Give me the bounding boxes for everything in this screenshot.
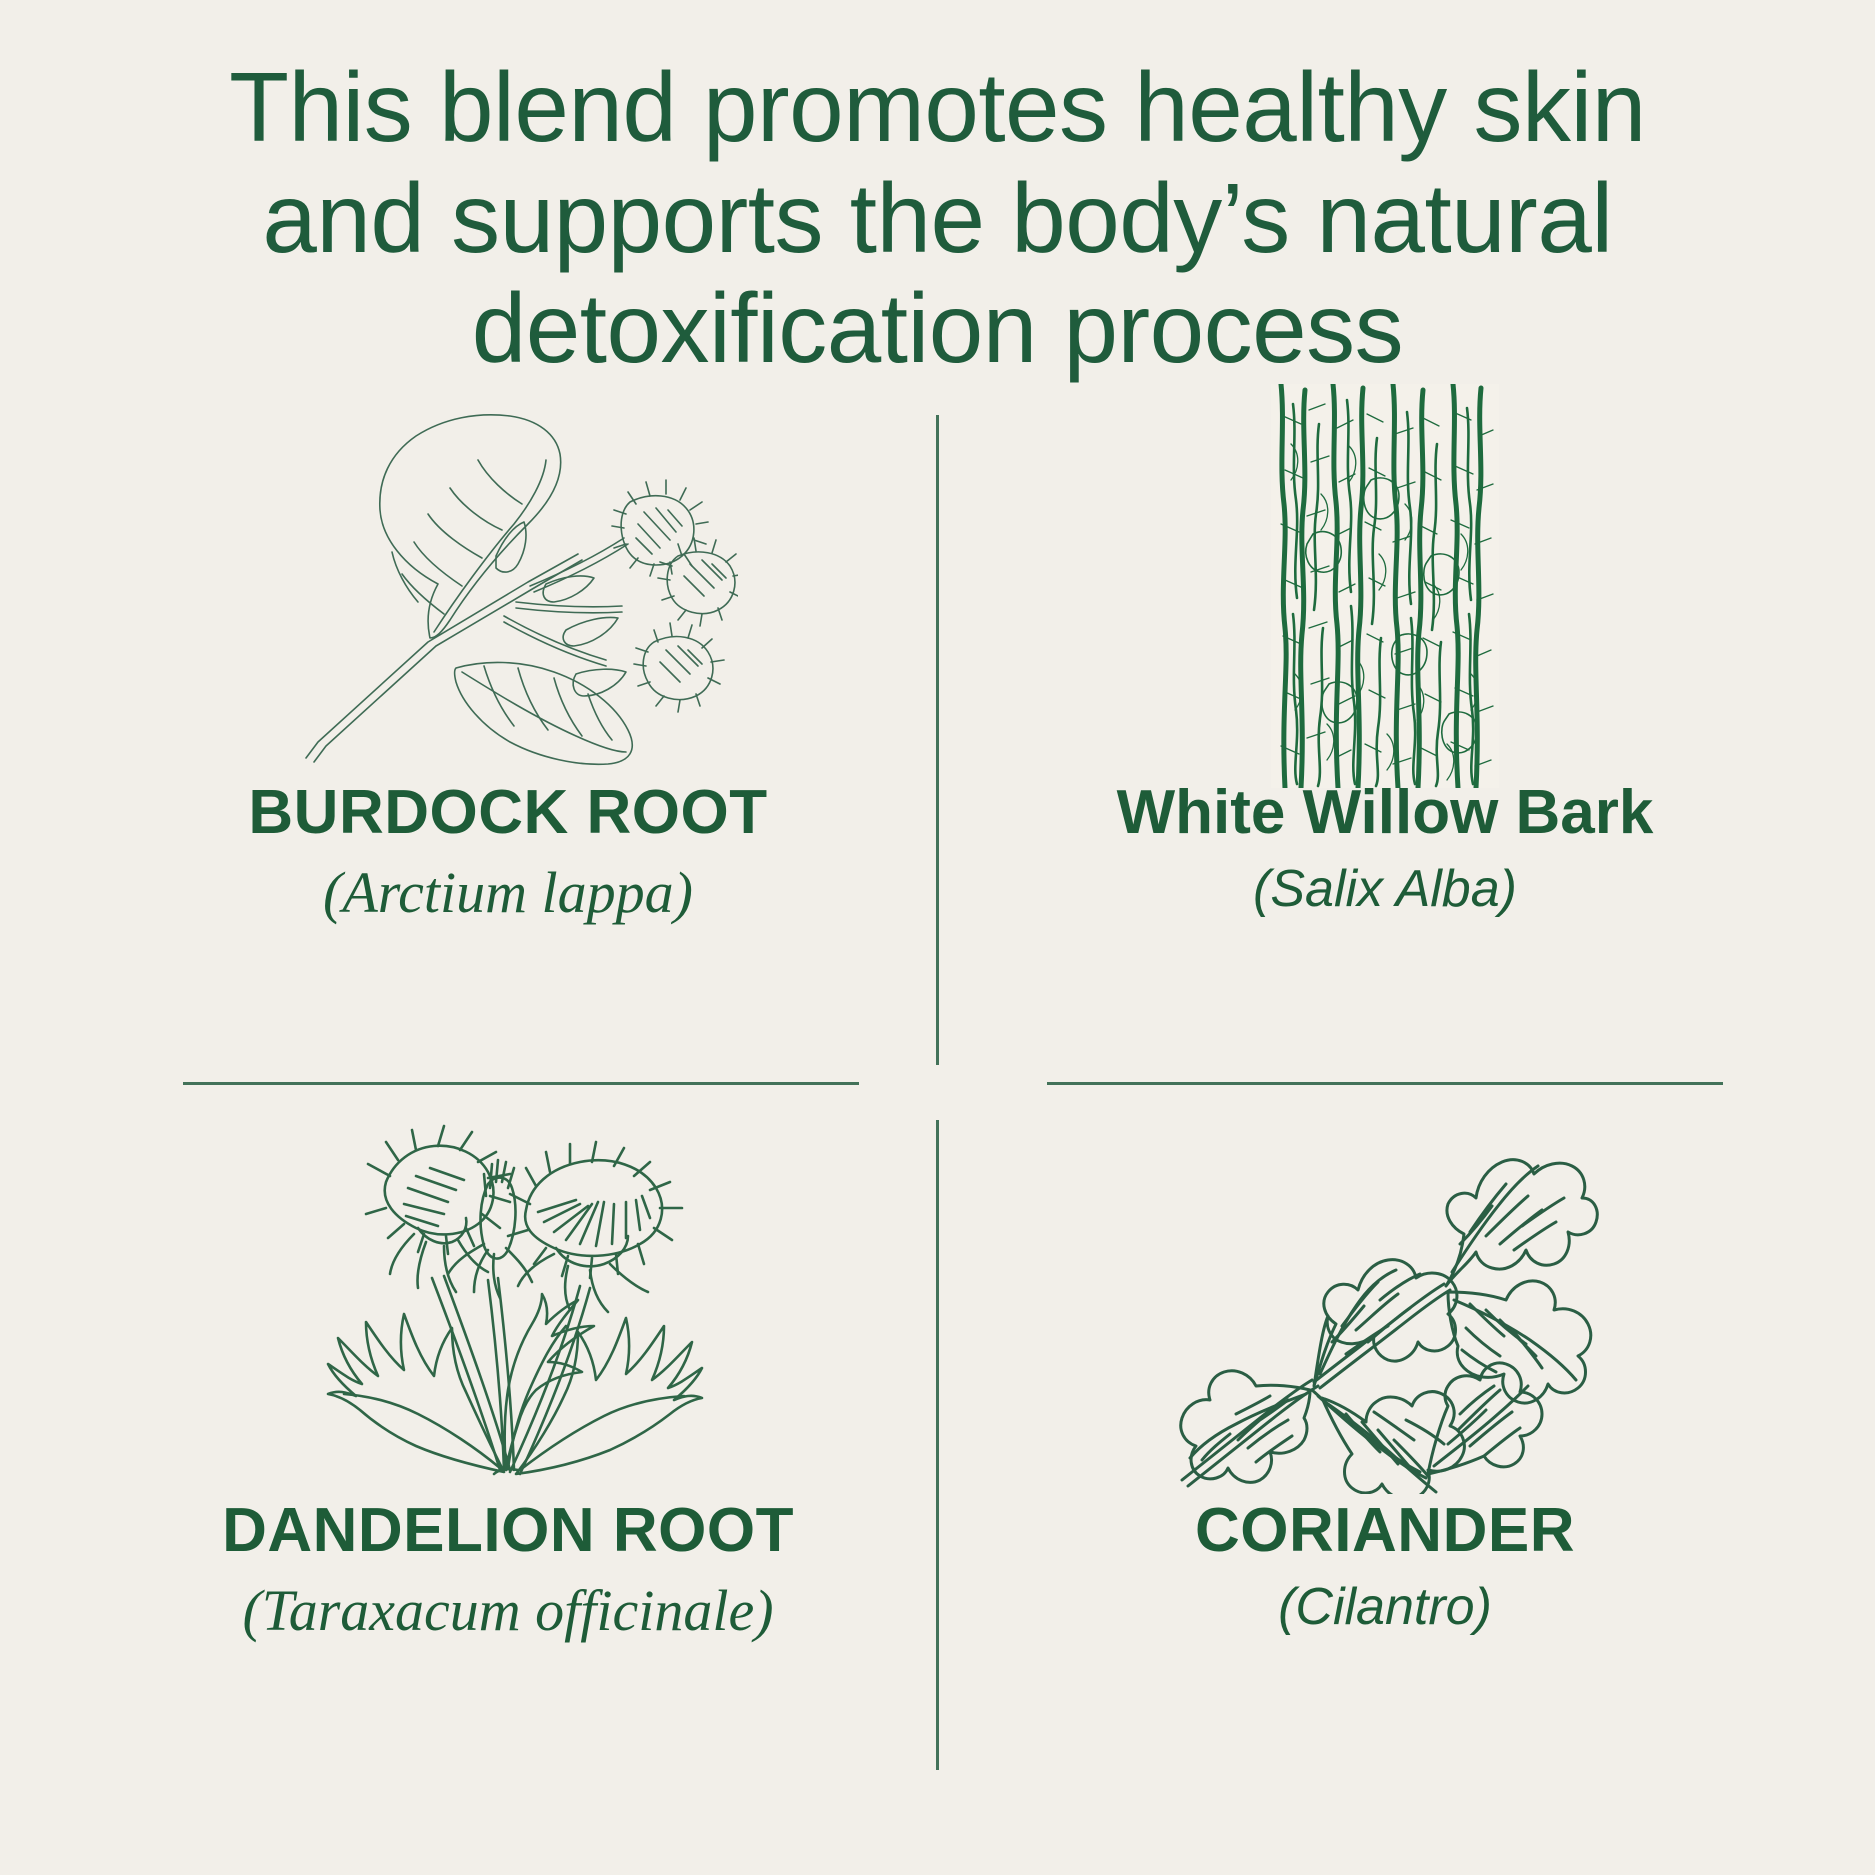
ingredient-card-burdock-root: BURDOCK ROOT (Arctium lappa) <box>78 400 938 925</box>
headline-line-2: and supports the body’s natural <box>262 163 1612 273</box>
ingredient-latin-name: (Salix Alba) <box>1253 861 1517 918</box>
ingredient-name: White Willow Bark <box>1117 780 1654 845</box>
coriander-leaf-illustration <box>955 1118 1815 1490</box>
ingredient-card-white-willow-bark: White Willow Bark (Salix Alba) <box>955 400 1815 918</box>
headline-line-1: This blend promotes healthy skin <box>229 52 1646 162</box>
page-headline: This blend promotes healthy skin and sup… <box>0 52 1875 384</box>
headline-line-3: detoxification process <box>472 273 1403 383</box>
ingredient-card-dandelion-root: DANDELION ROOT (Taraxacum officinale) <box>78 1118 938 1643</box>
willow-bark-texture-illustration <box>955 400 1815 772</box>
ingredient-card-coriander: CORIANDER (Cilantro) <box>955 1118 1815 1636</box>
ingredient-grid: BURDOCK ROOT (Arctium lappa) <box>0 400 1875 1875</box>
dandelion-plant-illustration <box>78 1118 938 1490</box>
ingredient-infographic: This blend promotes healthy skin and sup… <box>0 0 1875 1875</box>
ingredient-name: BURDOCK ROOT <box>248 780 767 845</box>
bark-texture-panel <box>1271 384 1499 788</box>
burdock-plant-illustration <box>78 400 938 772</box>
ingredient-latin-name: (Cilantro) <box>1278 1579 1492 1636</box>
ingredient-name: CORIANDER <box>1195 1498 1575 1563</box>
ingredient-latin-name: (Arctium lappa) <box>323 861 693 925</box>
ingredient-latin-name: (Taraxacum officinale) <box>242 1579 773 1643</box>
ingredient-name: DANDELION ROOT <box>222 1498 794 1563</box>
